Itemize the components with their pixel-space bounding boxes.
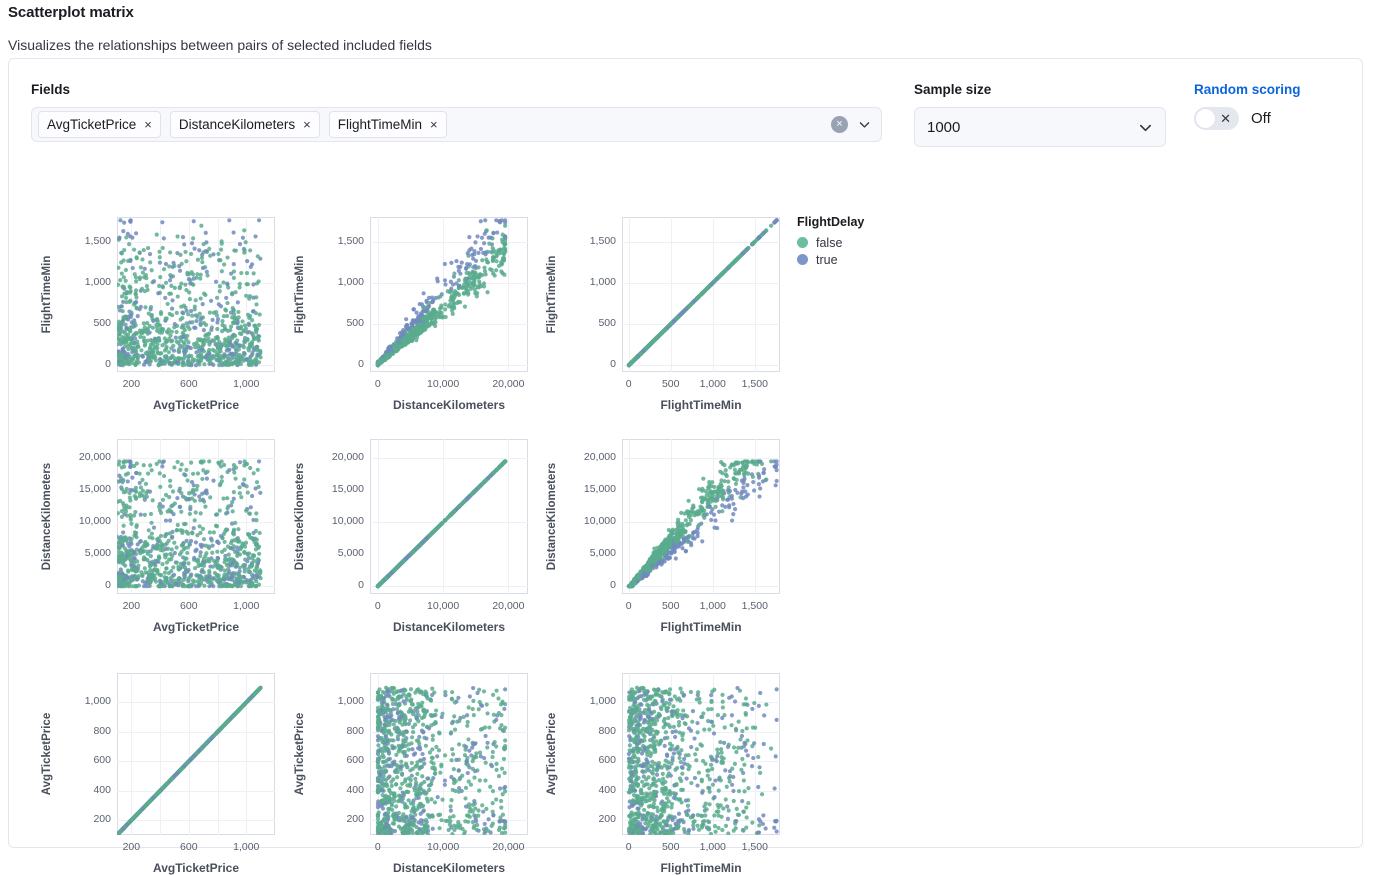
y-tick-label: 1,000	[560, 276, 616, 288]
fields-combobox[interactable]: AvgTicketPrice×DistanceKilometers×Flight…	[31, 107, 882, 142]
field-pill[interactable]: FlightTimeMin×	[329, 111, 447, 138]
field-pill[interactable]: DistanceKilometers×	[170, 111, 320, 138]
chevron-down-icon[interactable]	[858, 118, 871, 131]
x-tick-label: 1,000	[216, 600, 276, 612]
remove-field-icon[interactable]: ×	[303, 118, 311, 131]
y-tick-label: 1,000	[308, 695, 364, 707]
legend-title: FlightDelay	[797, 215, 864, 229]
x-axis-label: AvgTicketPrice	[77, 398, 315, 412]
y-axis-label: FlightTimeMin	[41, 217, 53, 372]
y-tick-label: 200	[55, 813, 111, 825]
y-tick-label: 20,000	[560, 451, 616, 463]
x-tick-label: 1,000	[216, 378, 276, 390]
scatter-points[interactable]	[370, 439, 528, 594]
y-tick-label: 800	[560, 725, 616, 737]
scatter-points[interactable]	[622, 439, 780, 594]
legend-item[interactable]: false	[797, 234, 864, 251]
sample-size-label: Sample size	[914, 82, 991, 97]
y-tick-label: 600	[560, 754, 616, 766]
x-axis-label: FlightTimeMin	[582, 398, 820, 412]
y-tick-label: 20,000	[308, 451, 364, 463]
scatter-points[interactable]	[117, 217, 275, 372]
field-pill-label: AvgTicketPrice	[47, 117, 136, 132]
scatterplot-matrix-card: Fields AvgTicketPrice×DistanceKilometers…	[8, 58, 1363, 848]
y-tick-label: 800	[55, 725, 111, 737]
legend-item[interactable]: true	[797, 251, 864, 268]
y-tick-label: 0	[55, 358, 111, 370]
y-tick-label: 5,000	[560, 547, 616, 559]
random-scoring-label[interactable]: Random scoring	[1194, 82, 1301, 97]
random-scoring-toggle[interactable]: ✕	[1194, 107, 1239, 130]
legend: FlightDelay false true	[797, 215, 864, 268]
x-axis-label: DistanceKilometers	[330, 620, 568, 634]
x-axis-label: DistanceKilometers	[330, 398, 568, 412]
y-tick-label: 5,000	[55, 547, 111, 559]
y-tick-label: 0	[560, 579, 616, 591]
y-tick-label: 500	[308, 317, 364, 329]
y-axis-label: AvgTicketPrice	[41, 673, 53, 835]
x-tick-label: 20,000	[478, 600, 538, 612]
x-tick-label: 0	[348, 378, 408, 390]
x-tick-label: 1,000	[216, 841, 276, 853]
y-axis-label: DistanceKilometers	[546, 439, 558, 594]
y-tick-label: 1,500	[55, 235, 111, 247]
remove-field-icon[interactable]: ×	[144, 118, 152, 131]
fields-combobox-actions: ×	[831, 116, 875, 133]
y-tick-label: 800	[308, 725, 364, 737]
y-axis-label: DistanceKilometers	[41, 439, 53, 594]
x-tick-label: 200	[101, 841, 161, 853]
legend-item-label: false	[816, 236, 842, 250]
sample-size-select[interactable]: 1000	[914, 107, 1166, 147]
random-scoring-state: Off	[1251, 110, 1271, 127]
y-tick-label: 400	[560, 784, 616, 796]
random-scoring-control: ✕ Off	[1194, 107, 1271, 130]
x-axis-label: FlightTimeMin	[582, 861, 820, 875]
x-axis-label: AvgTicketPrice	[77, 620, 315, 634]
x-tick-label: 10,000	[413, 841, 473, 853]
x-tick-label: 0	[348, 600, 408, 612]
remove-field-icon[interactable]: ×	[430, 118, 438, 131]
y-tick-label: 15,000	[55, 483, 111, 495]
y-tick-label: 20,000	[55, 451, 111, 463]
scatter-points[interactable]	[622, 217, 780, 372]
field-pill-label: FlightTimeMin	[338, 117, 422, 132]
field-pill-label: DistanceKilometers	[179, 117, 295, 132]
scatter-points[interactable]	[370, 673, 528, 835]
y-tick-label: 200	[560, 813, 616, 825]
y-axis-label: FlightTimeMin	[546, 217, 558, 372]
sample-size-value: 1000	[927, 119, 960, 136]
y-axis-label: DistanceKilometers	[294, 439, 306, 594]
y-tick-label: 1,000	[560, 695, 616, 707]
scatterplot-matrix: 2006001,00005001,0001,500AvgTicketPriceF…	[9, 154, 799, 854]
page-subtitle: Visualizes the relationships between pai…	[8, 37, 432, 53]
legend-item-label: true	[816, 253, 838, 267]
y-tick-label: 1,000	[55, 695, 111, 707]
y-axis-label: AvgTicketPrice	[294, 673, 306, 835]
x-tick-label: 10,000	[413, 600, 473, 612]
x-axis-label: FlightTimeMin	[582, 620, 820, 634]
y-tick-label: 1,500	[308, 235, 364, 247]
x-tick-label: 1,500	[725, 378, 785, 390]
y-tick-label: 0	[560, 358, 616, 370]
y-axis-label: FlightTimeMin	[294, 217, 306, 372]
y-tick-label: 15,000	[560, 483, 616, 495]
y-tick-label: 10,000	[560, 515, 616, 527]
field-pill[interactable]: AvgTicketPrice×	[38, 111, 161, 138]
x-tick-label: 600	[159, 378, 219, 390]
y-tick-label: 400	[308, 784, 364, 796]
y-tick-label: 15,000	[308, 483, 364, 495]
x-tick-label: 10,000	[413, 378, 473, 390]
x-tick-label: 600	[159, 841, 219, 853]
x-tick-label: 20,000	[478, 841, 538, 853]
y-tick-label: 500	[560, 317, 616, 329]
x-axis-label: AvgTicketPrice	[77, 861, 315, 875]
y-tick-label: 1,500	[560, 235, 616, 247]
y-axis-label: AvgTicketPrice	[546, 673, 558, 835]
fields-label: Fields	[31, 82, 70, 97]
y-tick-label: 10,000	[308, 515, 364, 527]
clear-fields-button[interactable]: ×	[831, 116, 848, 133]
chevron-down-icon[interactable]	[1138, 120, 1153, 135]
y-tick-label: 0	[308, 579, 364, 591]
y-tick-label: 1,000	[308, 276, 364, 288]
x-tick-label: 200	[101, 600, 161, 612]
x-tick-label: 20,000	[478, 378, 538, 390]
y-tick-label: 600	[55, 754, 111, 766]
y-tick-label: 0	[308, 358, 364, 370]
scatter-points[interactable]	[370, 217, 528, 372]
x-tick-label: 1,500	[725, 600, 785, 612]
y-tick-label: 200	[308, 813, 364, 825]
y-tick-label: 0	[55, 579, 111, 591]
page-title: Scatterplot matrix	[8, 4, 134, 21]
x-tick-label: 200	[101, 378, 161, 390]
x-tick-label: 600	[159, 600, 219, 612]
y-tick-label: 5,000	[308, 547, 364, 559]
toggle-knob	[1195, 108, 1216, 129]
x-axis-label: DistanceKilometers	[330, 861, 568, 875]
x-tick-label: 0	[348, 841, 408, 853]
scatter-points[interactable]	[117, 439, 275, 594]
close-icon: ✕	[1220, 110, 1231, 127]
y-tick-label: 400	[55, 784, 111, 796]
x-tick-label: 1,500	[725, 841, 785, 853]
y-tick-label: 600	[308, 754, 364, 766]
y-tick-label: 10,000	[55, 515, 111, 527]
y-tick-label: 1,000	[55, 276, 111, 288]
scatter-points[interactable]	[622, 673, 780, 835]
scatter-points[interactable]	[117, 673, 275, 835]
y-tick-label: 500	[55, 317, 111, 329]
